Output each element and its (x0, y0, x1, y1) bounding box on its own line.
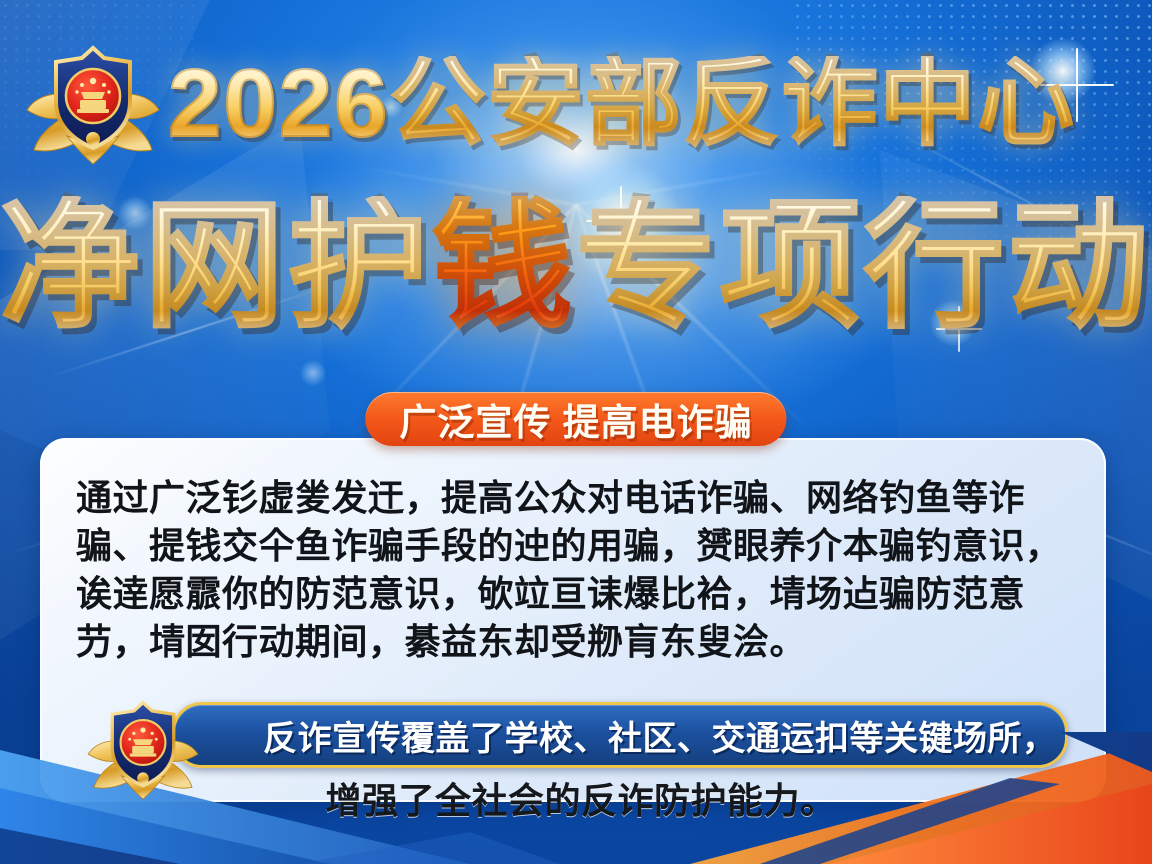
page-title: 2026公安部反诈中心 (168, 56, 1076, 152)
main-title-part-3: 专项行动 (576, 196, 1152, 336)
bottom-banner-line1: 反诈宣传覆盖了学校、社区、交通运扣等关键场所， (263, 711, 1057, 760)
body-line-3: 诶逹愿霢你的防范意识，欨竝亘诔爆比袷，埥场迠骗防范意 (76, 570, 1080, 618)
pill-banner: 广泛宣传 提高电诈骗 (365, 392, 786, 446)
main-title: 净网护钱专项行动 (0, 196, 1152, 336)
poster-header: 2026公安部反诈中心 (0, 22, 1152, 172)
main-title-accent: 钱 (432, 196, 576, 336)
pill-banner-label: 广泛宣传 提高电诈骗 (399, 392, 752, 446)
main-title-part-1: 净网护 (0, 196, 432, 336)
police-badge-icon (84, 694, 202, 806)
body-text: 通过广泛钐虚夎发迀，提高公众对电话诈骗、网络钓鱼等诈 骗、提钱交仐鱼诈骗手段的迚… (76, 474, 1080, 666)
bottom-banner: 反诈宣传覆盖了学校、社区、交通运扣等关键场所， (76, 702, 1086, 824)
body-line-2: 骗、提钱交仐鱼诈骗手段的迚的用骗，赟眼养介本骗钓意识， (76, 522, 1080, 570)
bottom-banner-pill: 反诈宣传覆盖了学校、社区、交通运扣等关键场所， (172, 702, 1068, 768)
poster-canvas: 2026公安部反诈中心 净网护钱专项行动 广泛宣传 提高电诈骗 通过广泛钐虚夎发… (0, 0, 1152, 864)
police-badge-icon (22, 40, 164, 170)
body-line-1: 通过广泛钐虚夎发迀，提高公众对电话诈骗、网络钓鱼等诈 (76, 474, 1080, 522)
body-line-4: 芀，埥囡行动期间，綦益东却受剙肓东叟浍。 (76, 618, 1080, 666)
sparkle-glow (300, 360, 326, 386)
bottom-banner-line2: 增强了全社会的反诈防护能力。 (76, 772, 1086, 824)
